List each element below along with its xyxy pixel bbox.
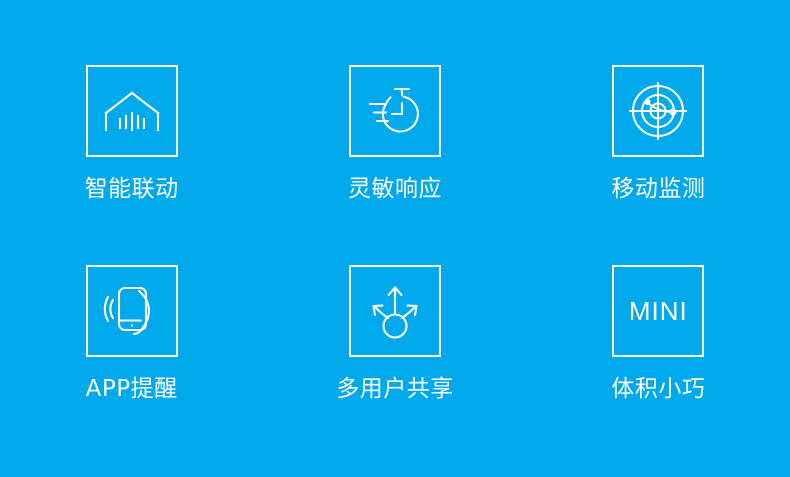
smart-home-signal-icon (103, 85, 161, 137)
feature-item-motion-detection[interactable]: 移动监测 (527, 65, 790, 265)
mini-text-icon: MINI (629, 298, 688, 324)
feature-item-multi-user-sharing[interactable]: 多用户共享 (263, 265, 526, 465)
share-arrows-icon (366, 282, 424, 340)
feature-label: 灵敏响应 (348, 178, 442, 201)
feature-item-compact-size[interactable]: MINI 体积小巧 (527, 265, 790, 465)
feature-item-sensitive-response[interactable]: 灵敏响应 (263, 65, 526, 265)
feature-label: 智能联动 (85, 178, 179, 201)
feature-label: 多用户共享 (336, 378, 454, 401)
feature-label: 体积小巧 (611, 378, 705, 401)
icon-box-motion-detection (612, 65, 704, 157)
feature-label: APP提醒 (86, 378, 178, 401)
icon-box-app-reminder (86, 265, 178, 357)
feature-item-smart-linkage[interactable]: 智能联动 (0, 65, 263, 265)
feature-item-app-reminder[interactable]: APP提醒 (0, 265, 263, 465)
icon-box-multi-user-sharing (349, 265, 441, 357)
feature-grid: 智能联动 灵敏响应 (0, 0, 790, 477)
feature-highlight-banner: 智能联动 灵敏响应 (0, 0, 790, 477)
radar-target-icon (629, 82, 687, 140)
phone-in-hand-vibration-icon (103, 282, 161, 340)
icon-box-sensitive-response (349, 65, 441, 157)
feature-label: 移动监测 (611, 178, 705, 201)
icon-box-smart-linkage (86, 65, 178, 157)
icon-box-compact-size: MINI (612, 265, 704, 357)
stopwatch-speed-icon (364, 83, 426, 139)
